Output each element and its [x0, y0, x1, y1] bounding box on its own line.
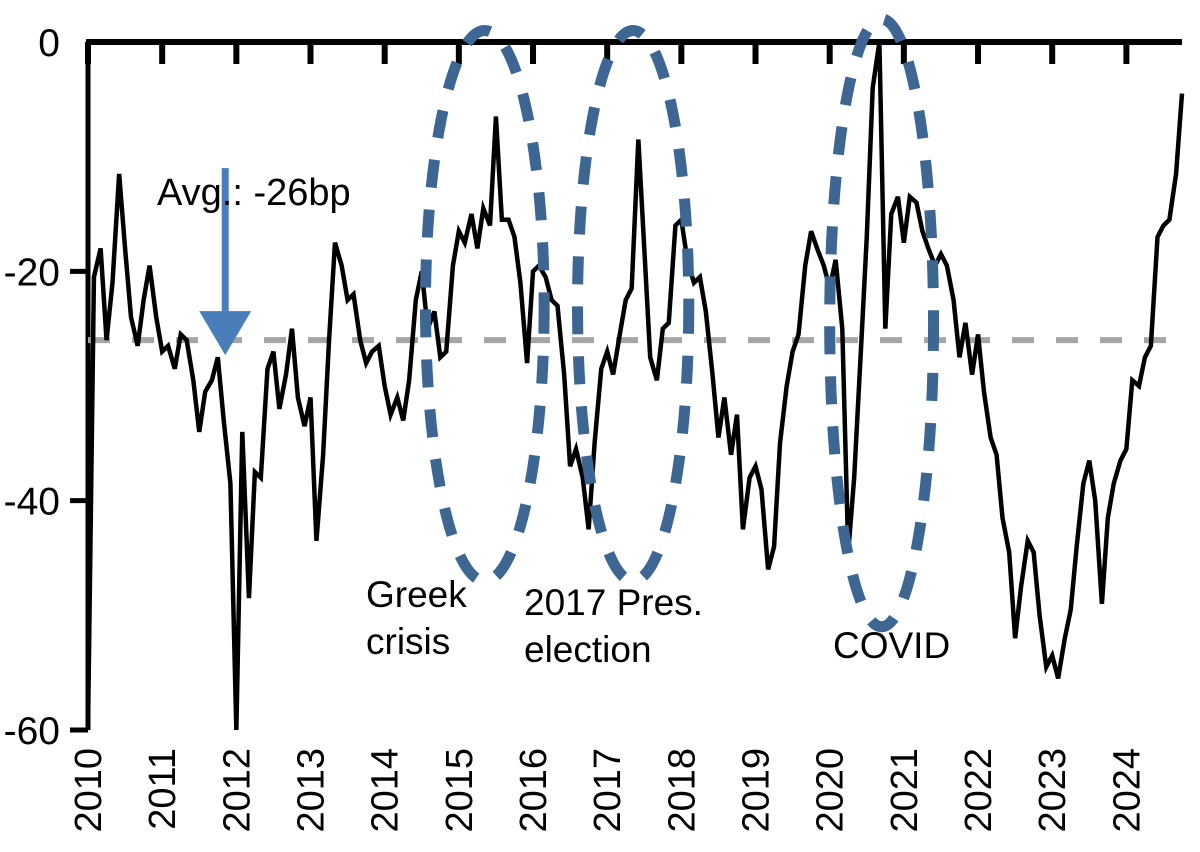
- x-tick-label-2011: 2011: [142, 748, 184, 830]
- x-tick-label-2014: 2014: [365, 748, 407, 833]
- x-tick-label-2020: 2020: [810, 748, 852, 833]
- y-tick-label: -60: [4, 710, 60, 753]
- covid-label: COVID: [833, 625, 950, 666]
- chart-background: [0, 0, 1200, 852]
- x-tick-label-2016: 2016: [513, 748, 555, 833]
- x-tick-label-2012: 2012: [216, 748, 258, 833]
- x-tick-label-2010: 2010: [68, 748, 110, 833]
- x-tick-label-2019: 2019: [736, 748, 778, 833]
- election-label-line2: election: [524, 629, 652, 670]
- x-tick-label-2024: 2024: [1106, 748, 1148, 833]
- y-tick-label: -40: [4, 481, 60, 524]
- x-tick-label-2018: 2018: [661, 748, 703, 833]
- x-tick-label-2013: 2013: [291, 748, 333, 833]
- chart-canvas: 0-20-40-60 20102011201220132014201520162…: [0, 0, 1200, 852]
- election-label-line1: 2017 Pres.: [524, 582, 703, 623]
- average-callout-label: Avg.: -26bp: [157, 172, 351, 214]
- greek-crisis-label-line1: Greek: [366, 574, 467, 615]
- y-tick-label: -20: [4, 251, 60, 294]
- chart-figure: 0-20-40-60 20102011201220132014201520162…: [0, 0, 1200, 852]
- y-tick-label: 0: [38, 22, 60, 65]
- x-tick-label-2017: 2017: [587, 748, 629, 833]
- x-tick-label-2022: 2022: [958, 748, 1000, 833]
- x-tick-label-2021: 2021: [884, 748, 926, 833]
- x-tick-label-2023: 2023: [1032, 748, 1074, 833]
- greek-crisis-label-line2: crisis: [366, 621, 450, 662]
- x-tick-label-2015: 2015: [439, 748, 481, 833]
- x-tick-labels: 2010201120122013201420152016201720182019…: [68, 748, 1148, 833]
